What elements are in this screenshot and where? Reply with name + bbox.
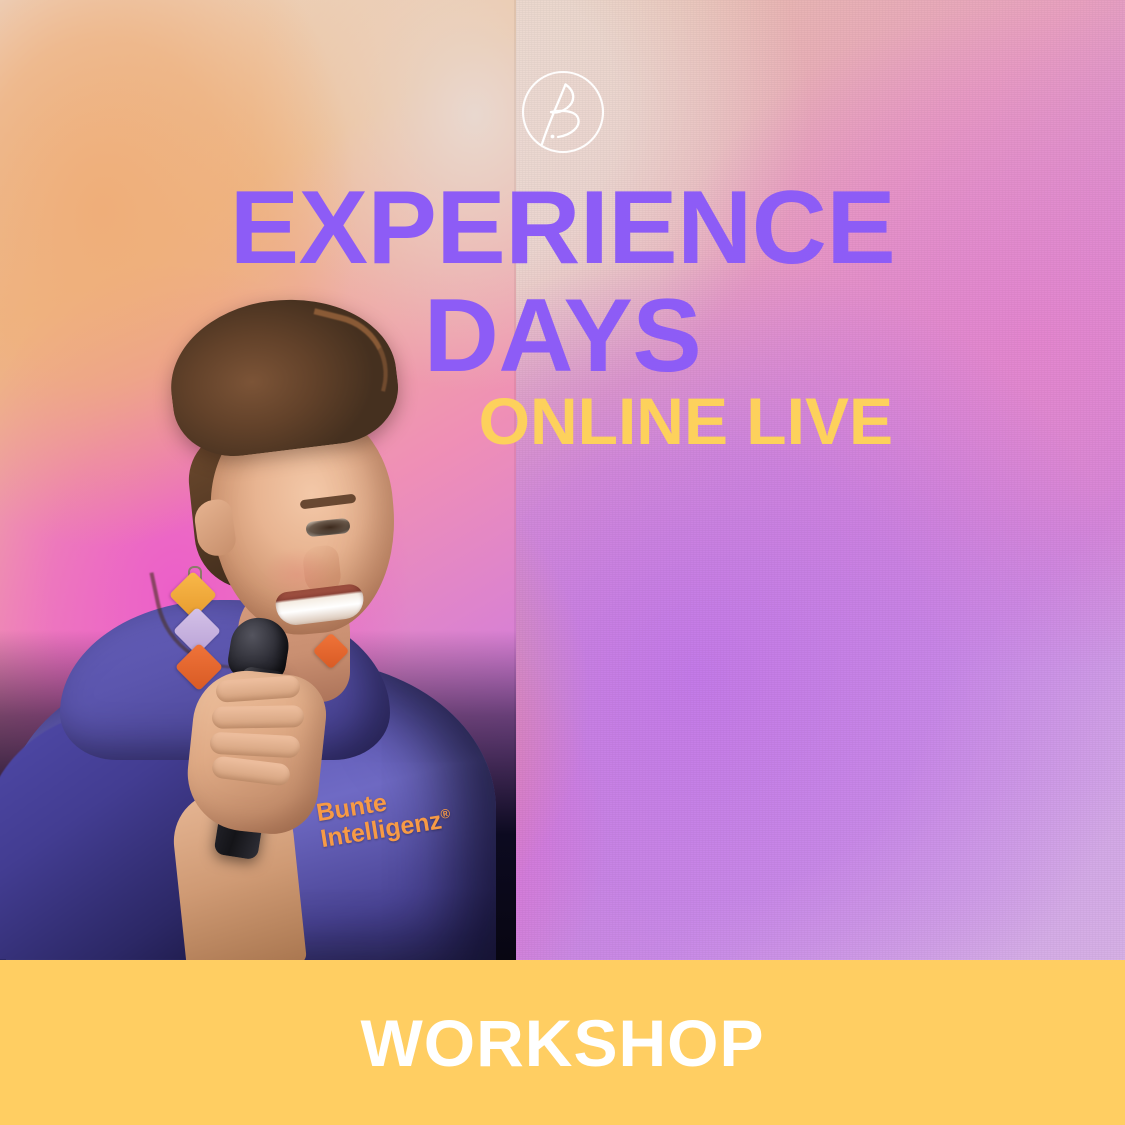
earring-diamond-yellow: [176, 578, 210, 612]
speaker-finger: [209, 732, 300, 759]
headline-line-1: EXPERIENCE: [0, 178, 1125, 280]
hoodie-print-mark: ®: [439, 805, 451, 821]
earring-diamond-orange-right: [318, 638, 344, 664]
headline-line-2: DAYS: [0, 286, 1125, 388]
speaker-finger: [212, 705, 304, 729]
brand-logo-icon: [519, 68, 607, 156]
earring-diamond-shape: [313, 633, 350, 670]
earring-diamond-lavender: [180, 614, 214, 648]
poster-canvas: Bunte Intelligenz®: [0, 0, 1125, 1125]
earring-diamond-orange: [182, 650, 216, 684]
subline-text: ONLINE LIVE: [479, 384, 893, 458]
speaker-photo: Bunte Intelligenz®: [0, 0, 516, 960]
subline-block: ONLINE LIVE: [0, 388, 1125, 454]
banner-label: WORKSHOP: [361, 1010, 765, 1076]
bottom-banner: WORKSHOP: [0, 960, 1125, 1125]
headline-block: EXPERIENCE DAYS: [0, 178, 1125, 388]
speaker-figure: Bunte Intelligenz®: [0, 0, 516, 960]
